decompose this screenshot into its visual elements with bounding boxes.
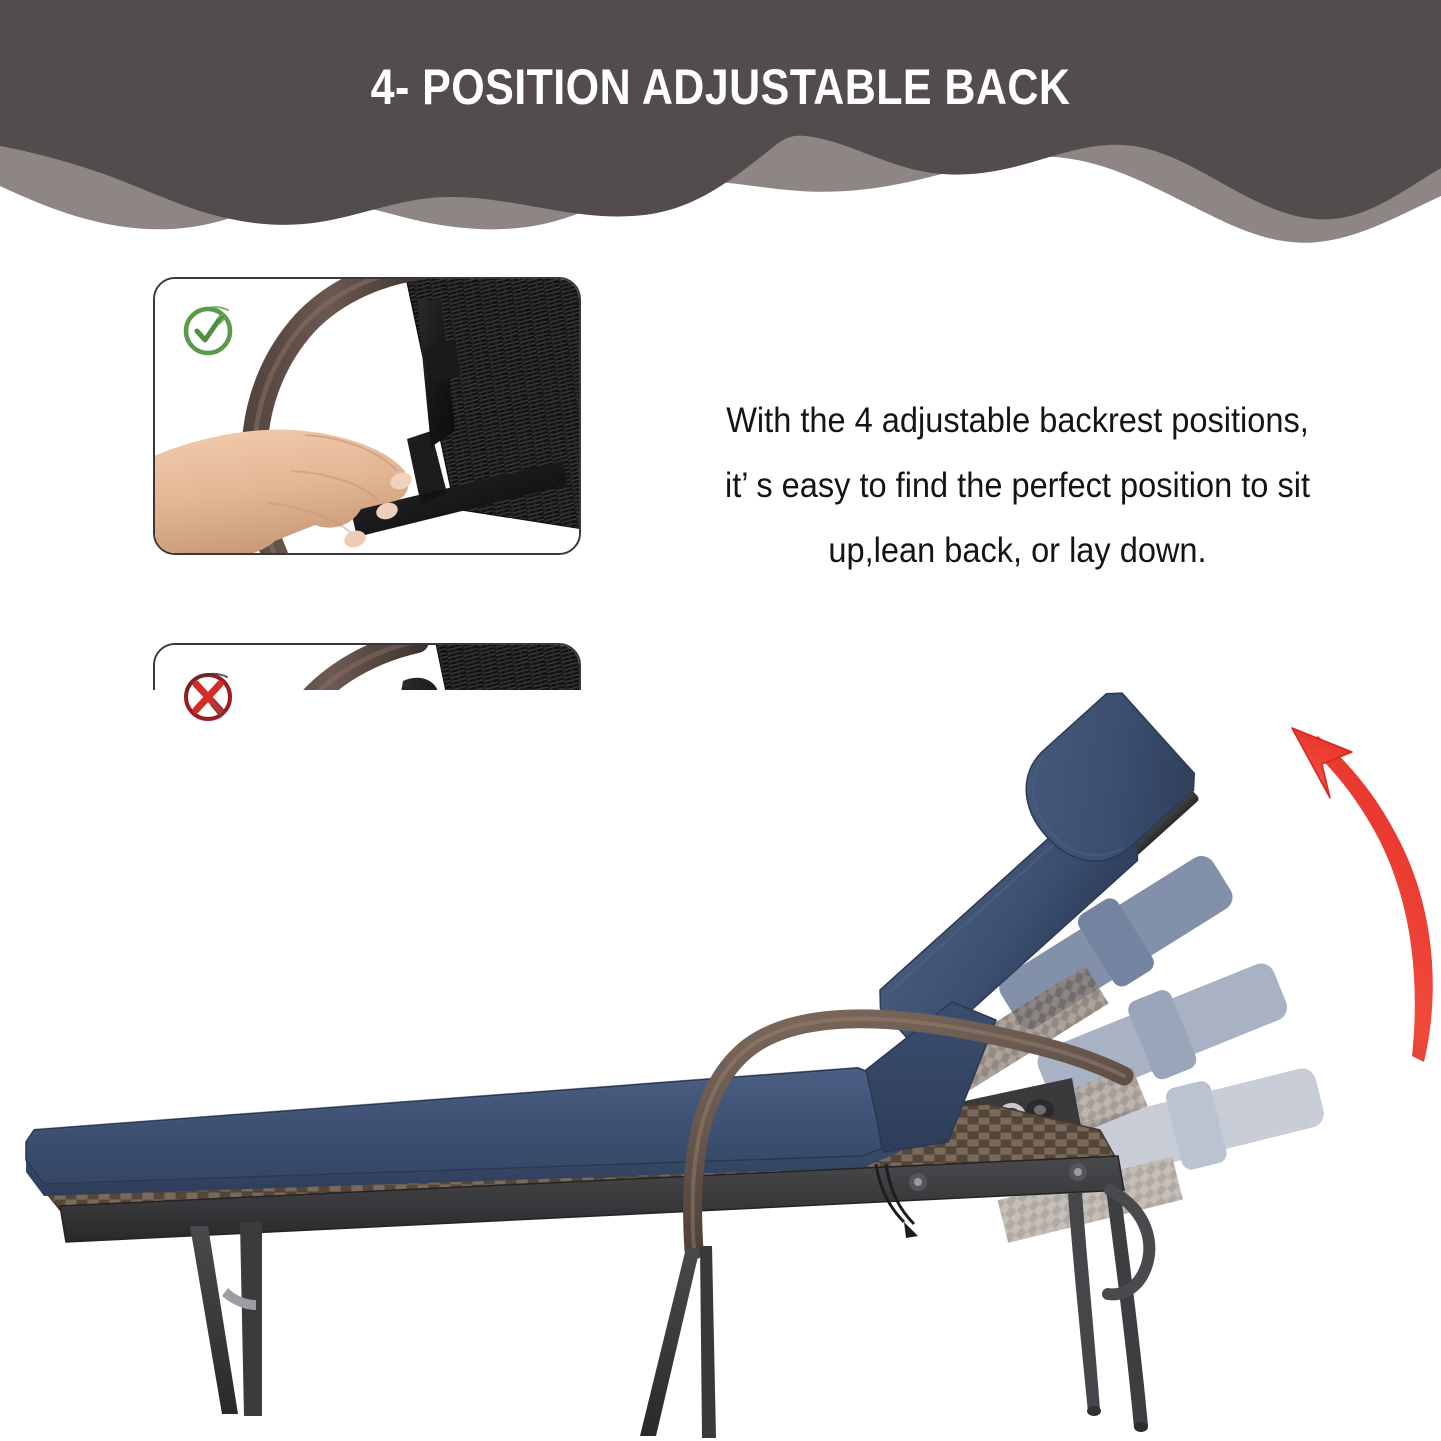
description-line-3: up,lean back, or lay down.	[643, 518, 1392, 583]
check-circle-icon	[179, 301, 237, 359]
description-line-2: it’ s easy to find the perfect position …	[643, 453, 1392, 518]
description-line-1: With the 4 adjustable backrest positions…	[643, 388, 1392, 453]
infographic-page: 4- POSITION ADJUSTABLE BACK	[0, 0, 1441, 1441]
photo-card-correct	[153, 277, 581, 555]
header-banner: 4- POSITION ADJUSTABLE BACK	[0, 0, 1441, 250]
x-circle-icon	[179, 667, 237, 725]
chaise-lounge-diagram	[0, 690, 1441, 1441]
banner-waves	[0, 0, 1441, 250]
product-illustration	[0, 690, 1441, 1441]
page-title: 4- POSITION ADJUSTABLE BACK	[101, 58, 1340, 116]
description-paragraph: With the 4 adjustable backrest positions…	[643, 388, 1392, 583]
